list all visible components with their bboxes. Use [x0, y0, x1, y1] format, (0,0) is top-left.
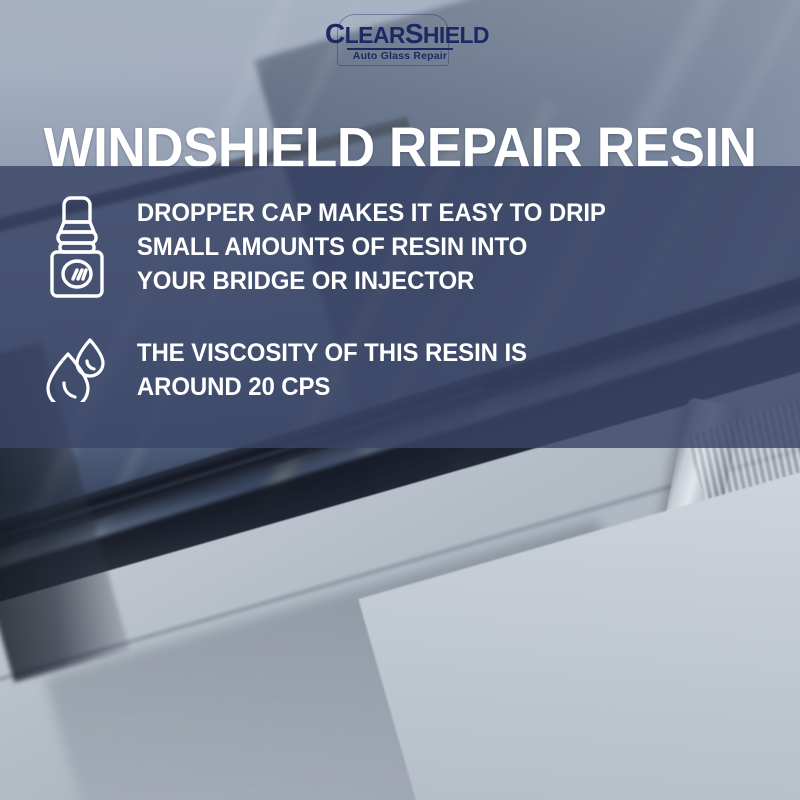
brand-rest-lear: LEAR — [345, 22, 405, 48]
brand-cap-s: S — [405, 18, 423, 49]
feature-line: DROPPER CAP MAKES IT EASY TO DRIP — [137, 196, 734, 230]
brand-logo: CLEARSHIELD Auto Glass Repair — [325, 14, 475, 72]
brand-tagline: Auto Glass Repair — [325, 50, 475, 62]
feature-item: THE VISCOSITY OF THIS RESIN IS AROUND 20… — [44, 332, 760, 406]
feature-line: SMALL AMOUNTS OF RESIN INTO — [137, 230, 734, 264]
feature-line: AROUND 20 CPS — [137, 370, 734, 404]
feature-item: DROPPER CAP MAKES IT EASY TO DRIP SMALL … — [44, 192, 760, 304]
feature-text: THE VISCOSITY OF THIS RESIN IS AROUND 20… — [110, 332, 734, 404]
feature-line: THE VISCOSITY OF THIS RESIN IS — [137, 336, 734, 370]
feature-overlay-panel: DROPPER CAP MAKES IT EASY TO DRIP SMALL … — [0, 166, 800, 448]
product-poster: CLEARSHIELD Auto Glass Repair WINDSHIELD… — [0, 0, 800, 800]
water-droplets-icon — [44, 332, 110, 406]
brand-rest-hield: HIELD — [423, 22, 489, 48]
feature-text: DROPPER CAP MAKES IT EASY TO DRIP SMALL … — [110, 192, 734, 298]
brand-cap-c: C — [325, 18, 345, 49]
dropper-bottle-icon — [44, 192, 110, 304]
feature-line: YOUR BRIDGE OR INJECTOR — [137, 264, 734, 298]
brand-wordmark: CLEARSHIELD — [325, 20, 475, 48]
header-band: CLEARSHIELD Auto Glass Repair WINDSHIELD… — [0, 0, 800, 166]
